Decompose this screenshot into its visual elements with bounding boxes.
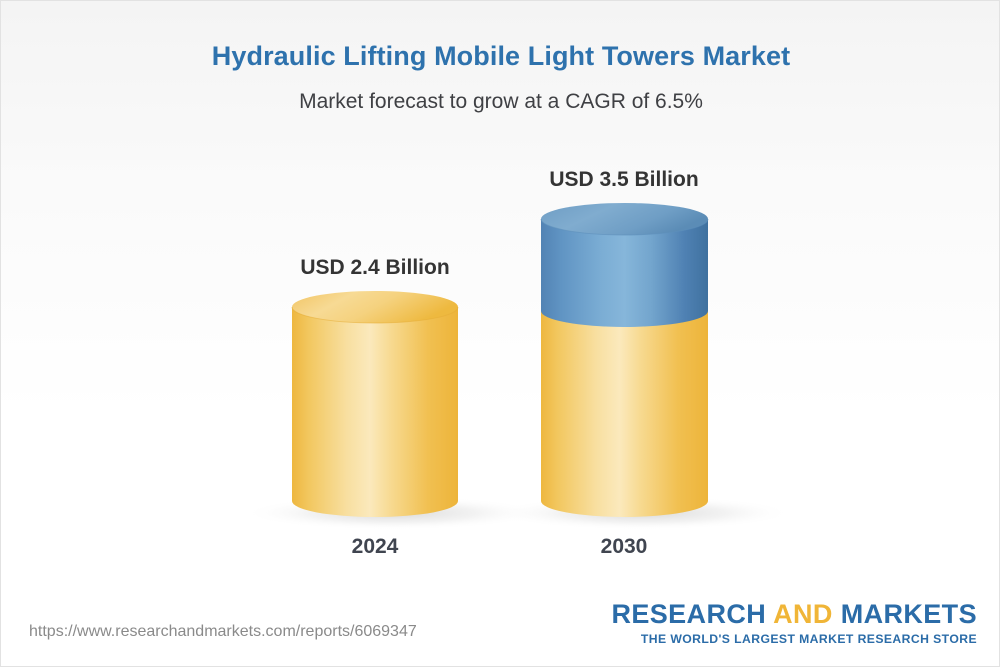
research-and-markets-logo[interactable]: RESEARCH AND MARKETS THE WORLD'S LARGEST… [611, 601, 977, 646]
market-forecast-infographic: Hydraulic Lifting Mobile Light Towers Ma… [0, 0, 1000, 667]
bar-2024[interactable] [292, 291, 458, 517]
logo-tagline: THE WORLD'S LARGEST MARKET RESEARCH STOR… [611, 632, 977, 646]
source-url[interactable]: https://www.researchandmarkets.com/repor… [29, 623, 417, 641]
logo-wordmark: RESEARCH AND MARKETS [611, 601, 977, 629]
logo-word-markets: MARKETS [841, 599, 977, 629]
category-label-2024: 2024 [295, 535, 455, 559]
logo-word-and: AND [773, 599, 833, 629]
logo-word-research: RESEARCH [611, 599, 766, 629]
category-label-2030: 2030 [544, 535, 704, 559]
cylinder-bar-chart: USD 2.4 Billion USD 3.5 Billion 2024 203… [1, 1, 1000, 667]
chart-svg [1, 1, 1000, 667]
value-label-2030: USD 3.5 Billion [524, 168, 724, 192]
bar-2030[interactable] [541, 203, 708, 517]
bar-2024-body [292, 307, 458, 517]
value-label-2024: USD 2.4 Billion [275, 256, 475, 280]
bar-2030-base-segment [541, 311, 708, 517]
